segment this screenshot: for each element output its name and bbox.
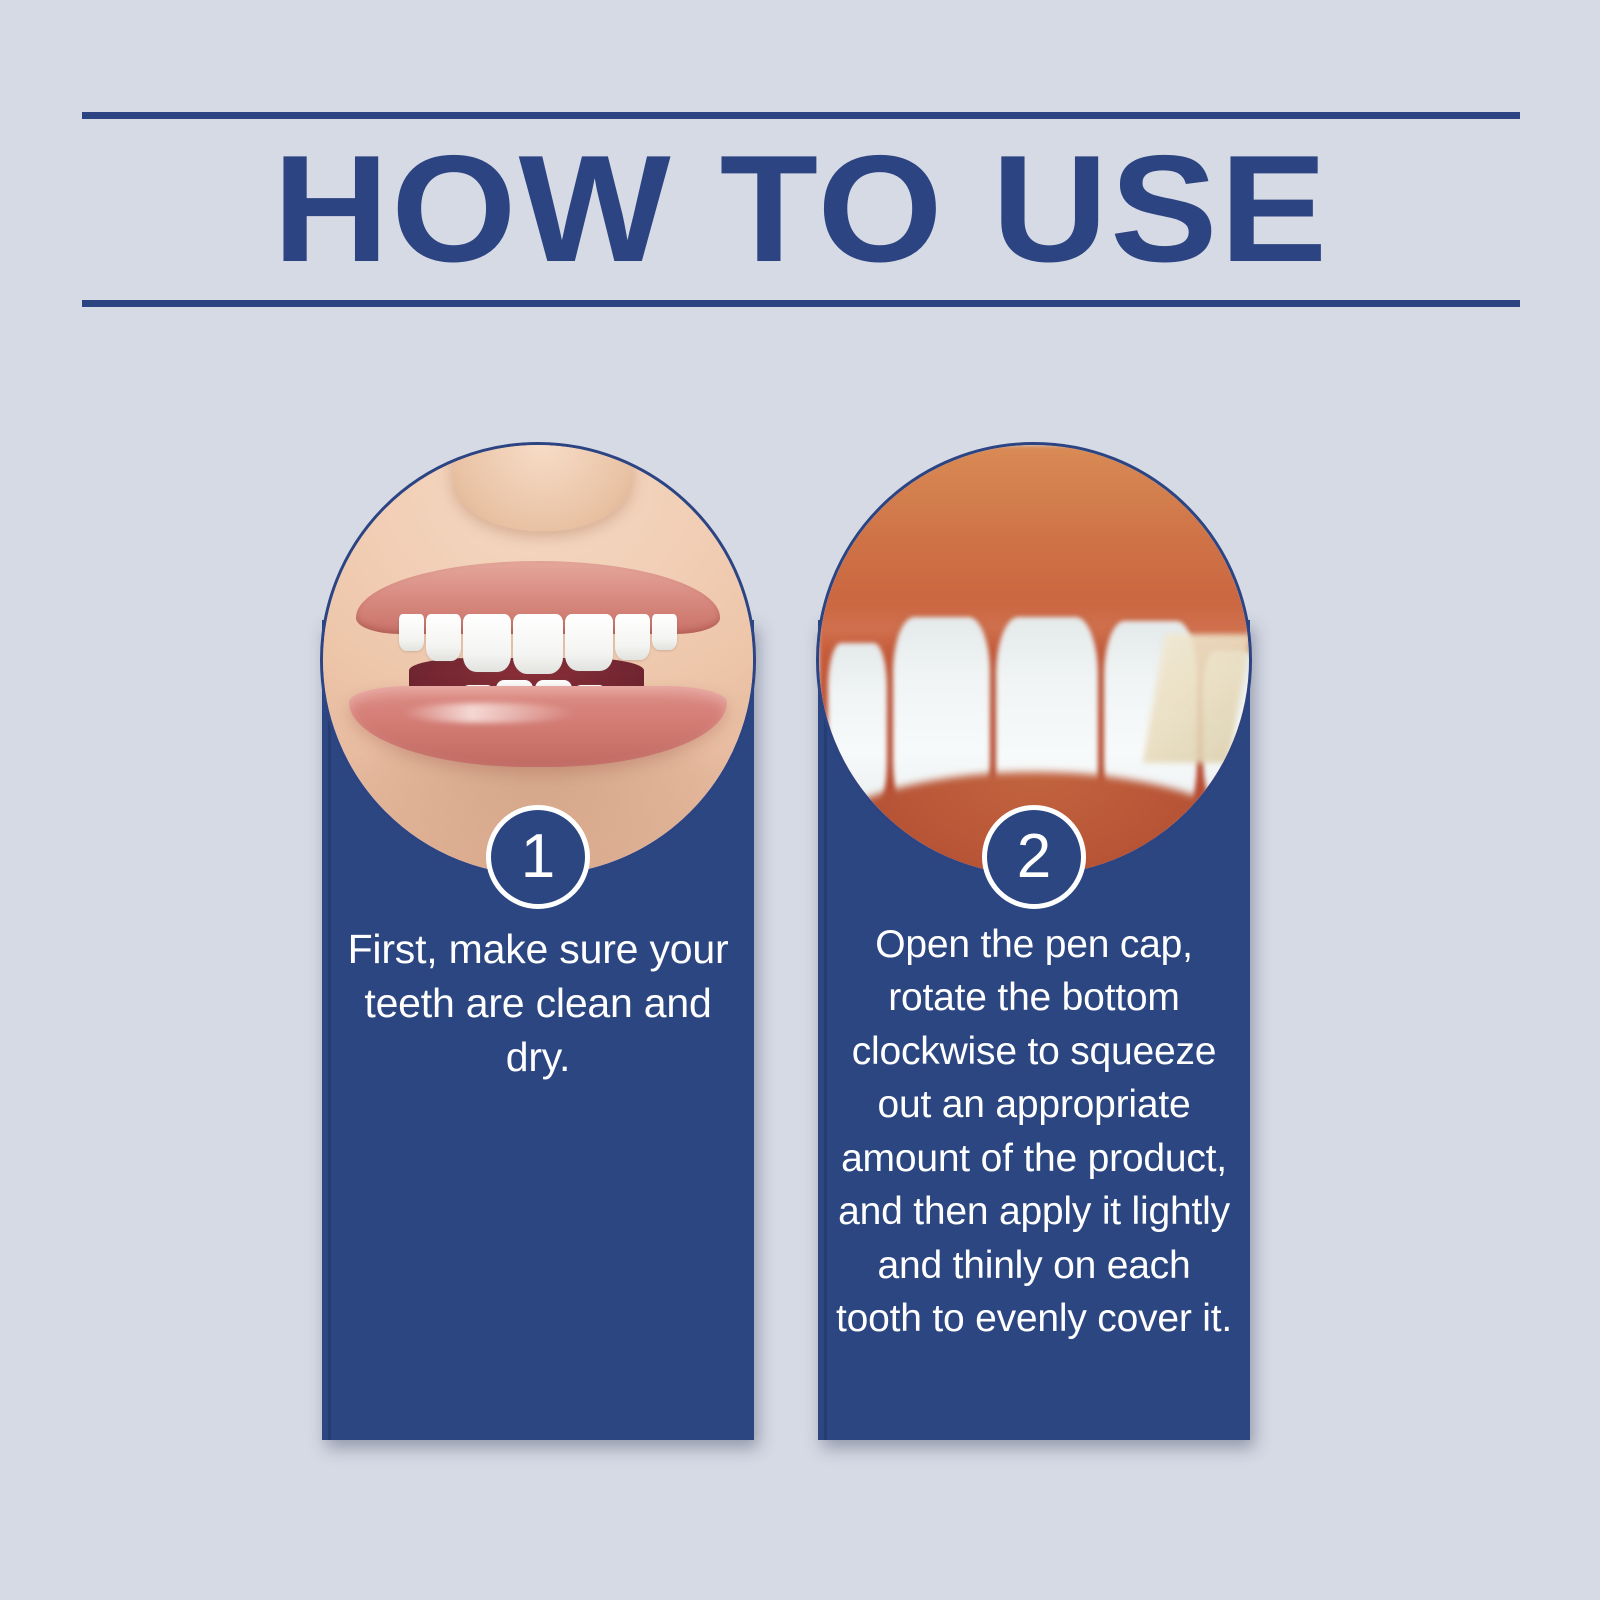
- step-1-text: First, make sure your teeth are clean an…: [338, 922, 738, 1084]
- upper-teeth-row: [379, 614, 697, 675]
- tooth: [399, 614, 424, 652]
- lower-lip: [349, 686, 727, 767]
- tooth: [463, 614, 511, 672]
- step-2-text: Open the pen cap, rotate the bottom cloc…: [834, 918, 1234, 1345]
- step-card-2: 2 Open the pen cap, rotate the bottom cl…: [816, 442, 1252, 1442]
- mouth-group: [349, 561, 727, 763]
- step-1-number-badge: 1: [486, 805, 590, 909]
- tooth: [652, 614, 677, 650]
- tooth: [565, 614, 613, 671]
- infographic-page: HOW TO USE: [0, 0, 1600, 1600]
- tooth: [828, 643, 887, 819]
- tooth: [513, 614, 564, 675]
- step-2-number-badge: 2: [982, 805, 1086, 909]
- tooth: [615, 614, 650, 660]
- lip-gloss-highlight: [402, 703, 576, 723]
- tooth: [426, 614, 461, 661]
- step-card-1: 1 First, make sure your teeth are clean …: [320, 442, 756, 1442]
- steps-container: 1 First, make sure your teeth are clean …: [0, 0, 1600, 1600]
